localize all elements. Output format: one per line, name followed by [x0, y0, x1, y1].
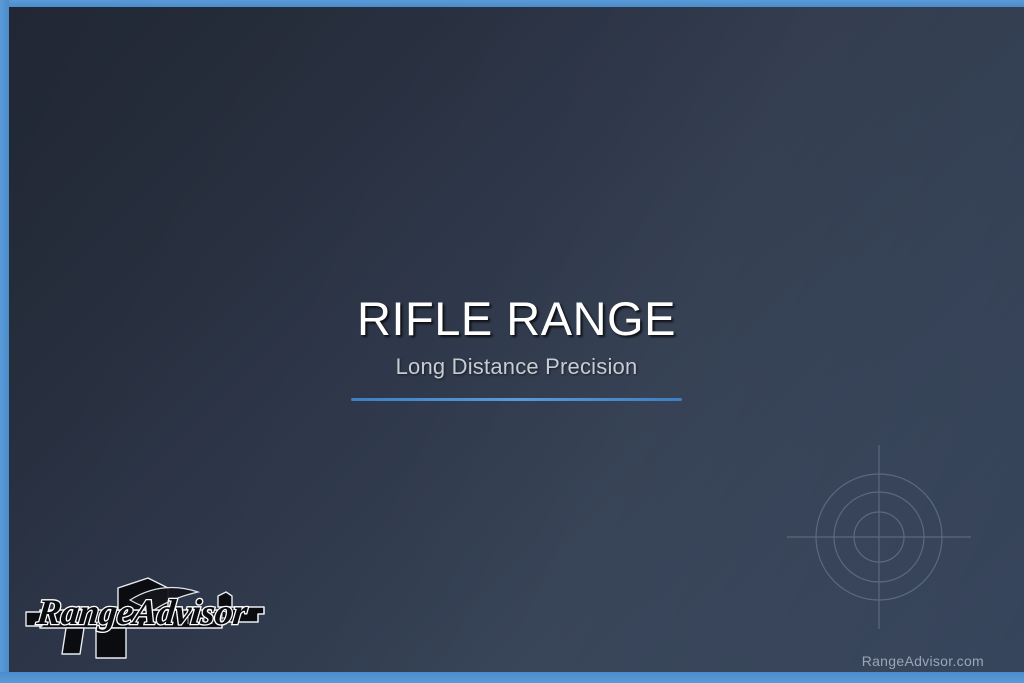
page-title: RIFLE RANGE — [9, 293, 1024, 346]
accent-divider — [351, 398, 682, 401]
presentation-slide: RIFLE RANGE Long Distance Precision — [0, 0, 1024, 683]
crosshair-target-icon — [784, 442, 974, 632]
page-subtitle: Long Distance Precision — [9, 354, 1024, 380]
watermark-url: RangeAdvisor.com — [862, 653, 984, 669]
frame-border-bottom — [0, 672, 1024, 683]
title-block: RIFLE RANGE Long Distance Precision — [9, 293, 1024, 401]
brand-wordmark-text: RangeAdvisor — [34, 592, 250, 632]
slide-canvas: RIFLE RANGE Long Distance Precision — [9, 7, 1024, 672]
frame-border-top — [0, 0, 1024, 7]
frame-border-left — [0, 0, 9, 683]
brand-logo[interactable]: RangeAdvisor — [22, 562, 284, 662]
brand-wordmark: RangeAdvisor — [34, 592, 250, 632]
